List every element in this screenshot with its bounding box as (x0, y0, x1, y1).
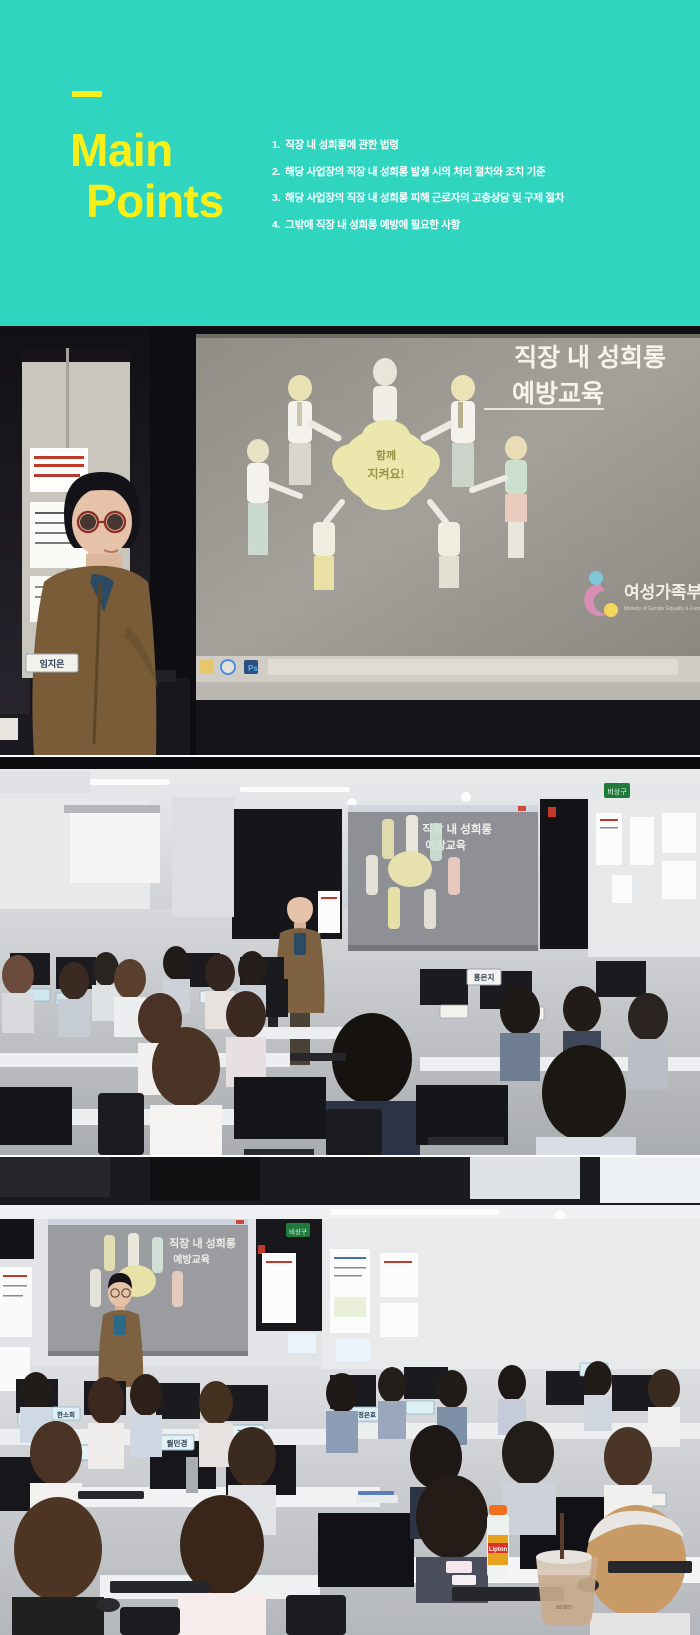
lecturer-inner-shirt (294, 933, 306, 955)
slide-bubble-line2: 지켜요! (367, 466, 404, 481)
monitor-stand (268, 1017, 278, 1027)
exit-sign-label: 비상구 (289, 1227, 307, 1236)
slide-title-underline (484, 408, 604, 410)
slide-title-line2: 예방교육 (173, 1253, 210, 1266)
wall-notice-line (34, 464, 84, 467)
name-placard-label: 월민경 (167, 1438, 188, 1448)
main-points-list: 1. 직장 내 성희롱에 관한 법령 2. 해당 사업장의 직장 내 성희롱 발… (272, 139, 672, 246)
chair-back (98, 1093, 144, 1155)
wall-notice-line (266, 1261, 292, 1263)
attendee (500, 987, 540, 1081)
below-screen-shadow (196, 700, 700, 755)
ceiling-downlight (555, 1210, 565, 1220)
photo-lecturer-at-podium: 직장 내 성희롱 예방교육 (0, 326, 700, 755)
photo3-illustration: 직장 내 성희롱 예방교육 비상구 (0, 1157, 700, 1635)
photo2-illustration: 직장 내 성희롱 예방교육 비상구 (0, 757, 700, 1155)
wall-notice-line (600, 827, 618, 829)
photo-classroom-rear: 직장 내 성희롱 예방교육 비상구 (0, 1157, 700, 1635)
keyboard (290, 1053, 346, 1061)
list-item-label: 직장 내 성희롱에 관한 법령 (285, 139, 398, 152)
attendee-shirt-top (470, 1157, 580, 1199)
screen-bottom-bezel (196, 682, 700, 700)
screen-top-edge (196, 334, 700, 338)
list-item-label: 해당 사업장의 직장 내 성희롱 피해 근로자의 고충상담 및 구제 절차 (285, 192, 564, 205)
wall-notice-line (334, 1267, 366, 1269)
attendee (12, 1497, 104, 1635)
wall-notice (380, 1253, 418, 1297)
attendee (130, 1374, 162, 1457)
chrome-icon[interactable] (221, 660, 235, 674)
snack-packet (452, 1575, 476, 1585)
ceiling-downlight (461, 792, 471, 802)
wall-notice-line (334, 1257, 366, 1259)
monitor (156, 1383, 200, 1419)
list-item: 4. 그밖에 직장 내 성희롱 예방에 필요한 사항 (272, 219, 672, 232)
lipton-bottle: Lipton (487, 1505, 509, 1579)
attendee (2, 955, 34, 1033)
door-header (22, 348, 130, 362)
wall-notice (336, 1339, 370, 1361)
page-title: Main Points (70, 128, 280, 224)
list-item-label: 그밖에 직장 내 성희롱 예방에 필요한 사항 (285, 219, 460, 232)
attendee (628, 993, 668, 1089)
wall-notice-line (600, 819, 618, 821)
wall-notice (662, 861, 696, 899)
wall-notice (380, 1303, 418, 1337)
wall-notice (288, 1333, 316, 1353)
podium-notice-line (321, 897, 337, 899)
wall-notice-line (334, 1275, 362, 1277)
top-dark-band (0, 757, 700, 769)
photo-classroom-wide: 직장 내 성희롱 예방교육 비상구 (0, 757, 700, 1155)
page-title-line2: Points (86, 179, 280, 224)
mouse (96, 1598, 120, 1612)
list-item-number: 1. (272, 139, 280, 152)
right-wall (322, 1219, 700, 1369)
name-placard-label: 홍은지 (474, 972, 495, 982)
attendee (378, 1367, 406, 1439)
eye-left (80, 514, 96, 530)
ceiling-light (330, 1209, 500, 1215)
photo1-illustration: 직장 내 성희롱 예방교육 (0, 326, 700, 755)
attendee (178, 1495, 266, 1635)
name-placard (440, 1005, 468, 1018)
screen-bottom-edge (48, 1351, 248, 1356)
attendee (648, 1369, 680, 1447)
notebook-pen (358, 1491, 394, 1495)
cup-logo-text: aram (556, 1604, 572, 1611)
monitor (234, 1077, 326, 1139)
exit-sign-label: 비상구 (607, 787, 627, 796)
taskbar-window-strip[interactable] (268, 659, 678, 675)
attendee (226, 991, 266, 1087)
monitor (596, 961, 646, 997)
name-placard-label: 정은호 (358, 1410, 376, 1419)
chair-back (120, 1607, 180, 1635)
monitor (416, 1085, 508, 1145)
wall-notice-line (3, 1295, 23, 1297)
chair-back (286, 1595, 346, 1635)
slide-logo-sub: Ministry of Gender Equality & Family (624, 606, 700, 612)
slide-title-line2: 예방교육 (512, 380, 604, 408)
snack-packet (446, 1561, 472, 1573)
slide-title-line1: 직장 내 성희롱 (514, 344, 666, 372)
ceiling-light (240, 787, 350, 792)
wall-notice-line (384, 1261, 412, 1263)
monitor (420, 969, 468, 1005)
list-item-number: 4. (272, 219, 280, 232)
attendee (88, 1377, 124, 1469)
horizontal-dash-icon (72, 91, 102, 97)
whiteboard (70, 813, 160, 883)
wall-notice (330, 1249, 370, 1333)
list-item: 2. 해당 사업장의 직장 내 성희롱 발생 시의 처리 절차와 조치 기준 (272, 166, 672, 179)
wall-notice-line (34, 456, 84, 459)
screen-close-button[interactable] (236, 1220, 244, 1224)
wall-notice (262, 1253, 296, 1323)
attendee (326, 1373, 358, 1453)
slide-bubble-line1: 함께 (376, 448, 396, 462)
podium-name-card (0, 718, 18, 740)
wall-notice (662, 813, 696, 853)
screen-header-bar (48, 1219, 248, 1225)
wall-notice (0, 1267, 32, 1337)
folder-icon[interactable] (200, 660, 214, 674)
lecturer-inner-shirt (114, 1315, 126, 1335)
bottle-cap (489, 1505, 507, 1515)
projector-screen-rail (64, 805, 160, 813)
wall-dark-panel (0, 1219, 34, 1259)
wall-notice-line (34, 474, 80, 477)
fire-alarm-icon (258, 1245, 265, 1254)
dark-door (540, 799, 588, 949)
chair-leg (186, 1457, 198, 1493)
keyboard (428, 1137, 504, 1145)
wall-notice-chart (334, 1297, 366, 1317)
name-badge: 임지은 (26, 654, 78, 672)
list-item: 3. 해당 사업장의 직장 내 성희롱 피해 근로자의 고충상담 및 구제 절차 (272, 192, 672, 205)
name-badge-label: 임지은 (40, 658, 65, 669)
wall-notice (612, 875, 632, 903)
notebook (356, 1495, 398, 1503)
attendee (416, 1475, 488, 1603)
chair-back (326, 1109, 382, 1155)
attendee (199, 1381, 233, 1467)
keyboard (110, 1581, 210, 1593)
name-placard-label: 한소희 (57, 1410, 75, 1419)
fire-alarm-icon (548, 807, 556, 817)
attendee (58, 962, 90, 1037)
screen-header-bar (348, 805, 538, 812)
keyboard-top (0, 1157, 110, 1197)
wall-notice-line (3, 1275, 27, 1277)
name-placard (406, 1401, 434, 1414)
photoshop-icon-glyph: Ps (248, 664, 258, 673)
monitor-top (150, 1157, 260, 1201)
list-item-number: 2. (272, 166, 280, 179)
eye-right (107, 514, 123, 530)
screen-close-button[interactable] (518, 806, 526, 811)
list-item-number: 3. (272, 192, 280, 205)
monitor (0, 1087, 72, 1145)
straw (560, 1513, 564, 1559)
attendee (584, 1361, 612, 1431)
keyboard (608, 1561, 692, 1573)
keyboard (78, 1491, 144, 1499)
list-item: 1. 직장 내 성희롱에 관한 법령 (272, 139, 672, 152)
main-points-hero: Main Points 1. 직장 내 성희롱에 관한 법령 2. 해당 사업장… (0, 0, 700, 326)
wall-column (172, 797, 234, 917)
slide-title-line1: 직장 내 성희롱 (169, 1236, 236, 1250)
lipton-bottle-label: Lipton (489, 1547, 508, 1553)
page-title-line1: Main (70, 128, 280, 173)
attendee (150, 1027, 222, 1155)
ceiling-panel (0, 771, 90, 793)
monitor (318, 1513, 414, 1587)
wall-notice (630, 817, 654, 865)
slide-logo-text: 여성가족부 (624, 583, 700, 602)
attendee-shirt-top (600, 1157, 700, 1203)
list-item-label: 해당 사업장의 직장 내 성희롱 발생 시의 처리 절차와 조치 기준 (285, 166, 545, 179)
screen-bottom-edge (348, 945, 538, 951)
wall-notice-line (3, 1285, 27, 1287)
